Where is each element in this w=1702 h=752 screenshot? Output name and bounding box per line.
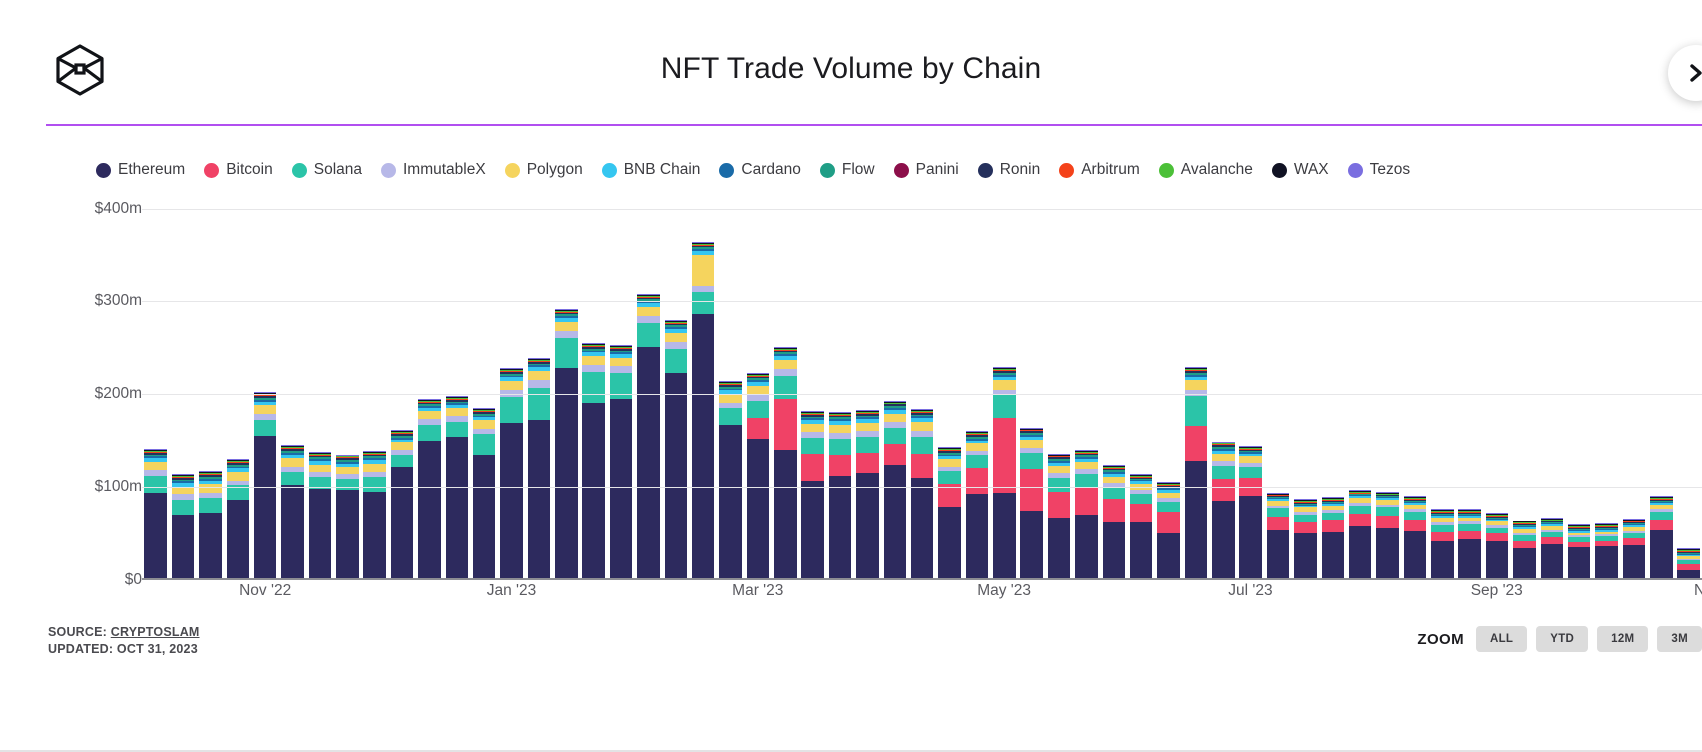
bar-segment-solana [774, 376, 797, 399]
y-axis-tick-label: $200m [22, 385, 142, 403]
bar-column[interactable] [1322, 190, 1345, 578]
bar-segment-ethereum [1048, 518, 1071, 578]
bar-segment-ethereum [391, 467, 414, 578]
bar-segment-ethereum [1376, 528, 1399, 578]
x-axis-labels: Nov '22Jan '23Mar '23May '23Jul '23Sep '… [142, 582, 1702, 608]
bar-segment-polygon [884, 414, 907, 422]
bar-column[interactable] [254, 190, 277, 578]
bar-segment-bitcoin [774, 399, 797, 450]
bar-segment-polygon [172, 487, 195, 494]
bar-column[interactable] [1568, 190, 1591, 578]
bar-segment-ethereum [829, 476, 852, 578]
bar-column[interactable] [1376, 190, 1399, 578]
bar-segment-ethereum [1267, 530, 1290, 578]
bar-column[interactable] [801, 190, 824, 578]
bar-segment-solana [1376, 507, 1399, 515]
bar-segment-solana [391, 455, 414, 467]
bar-segment-ethereum [1458, 539, 1481, 578]
bar-segment-ethereum [555, 368, 578, 578]
bar-segment-solana [555, 338, 578, 368]
bar-segment-ethereum [1404, 531, 1427, 578]
legend-swatch-icon [894, 163, 909, 178]
legend-item-flow[interactable]: Flow [820, 161, 875, 179]
bar-column[interactable] [144, 190, 167, 578]
legend-swatch-icon [1272, 163, 1287, 178]
bar-segment-polygon [254, 405, 277, 413]
gridline [142, 301, 1702, 302]
bar-segment-ethereum [528, 420, 551, 578]
bar-segment-ethereum [309, 489, 332, 578]
bar-column[interactable] [500, 190, 523, 578]
bar-column[interactable] [774, 190, 797, 578]
bar-column[interactable] [1404, 190, 1427, 578]
bar-segment-solana [1404, 512, 1427, 519]
x-axis-tick-label: Jul '23 [1228, 582, 1272, 600]
bar-column[interactable] [1294, 190, 1317, 578]
bar-segment-ethereum [446, 437, 469, 578]
legend-item-label: Polygon [527, 161, 583, 179]
bar-segment-polygon [719, 394, 742, 402]
legend-item-ethereum[interactable]: Ethereum [96, 161, 185, 179]
bar-segment-ethereum [1130, 522, 1153, 578]
bar-column[interactable] [1431, 190, 1454, 578]
bar-segment-bitcoin [1157, 512, 1180, 532]
source-link[interactable]: CRYPTOSLAM [111, 625, 200, 639]
legend-item-label: Arbitrum [1081, 161, 1140, 179]
bar-segment-polygon [856, 423, 879, 431]
bar-column[interactable] [418, 190, 441, 578]
bar-segment-polygon [555, 322, 578, 331]
bar-column[interactable] [911, 190, 934, 578]
bar-segment-bitcoin [911, 454, 934, 478]
bar-column[interactable] [1075, 190, 1098, 578]
bar-segment-solana [884, 428, 907, 445]
bar-segment-solana [172, 500, 195, 515]
bar-segment-ethereum [1677, 570, 1700, 578]
bar-segment-ethereum [884, 465, 907, 578]
bar-segment-polygon [610, 358, 633, 366]
x-axis-tick-label: Mar '23 [732, 582, 783, 600]
bar-segment-solana [199, 498, 222, 513]
bar-segment-ethereum [747, 439, 770, 578]
bar-segment-ethereum [719, 425, 742, 578]
bar-segment-ethereum [1294, 533, 1317, 578]
bar-segment-ethereum [692, 314, 715, 578]
bar-column[interactable] [993, 190, 1016, 578]
legend-swatch-icon [978, 163, 993, 178]
x-axis-tick-label: Jan '23 [487, 582, 537, 600]
bar-segment-ethereum [1212, 501, 1235, 578]
legend-item-avalanche[interactable]: Avalanche [1159, 161, 1253, 179]
bar-segment-polygon [144, 462, 167, 470]
legend-swatch-icon [505, 163, 520, 178]
bar-column[interactable] [856, 190, 879, 578]
legend-item-cardano[interactable]: Cardano [719, 161, 800, 179]
bar-column[interactable] [966, 190, 989, 578]
legend-item-label: Tezos [1370, 161, 1411, 179]
bar-segment-bitcoin [856, 453, 879, 473]
bar-segment-ethereum [1431, 541, 1454, 578]
bar-segment-ethereum [199, 513, 222, 578]
bar-column[interactable] [1048, 190, 1071, 578]
bar-segment-bitcoin [884, 444, 907, 464]
bar-segment-solana [1130, 494, 1153, 504]
zoom-button-ytd[interactable]: YTD [1536, 626, 1588, 652]
bar-segment-ethereum [1595, 546, 1618, 578]
bar-segment-solana [446, 422, 469, 437]
bar-segment-bitcoin [1075, 487, 1098, 515]
legend-item-tezos[interactable]: Tezos [1348, 161, 1411, 179]
bar-segment-ethereum [774, 450, 797, 578]
bar-segment-polygon [199, 484, 222, 492]
zoom-button-all[interactable]: ALL [1476, 626, 1527, 652]
bar-segment-solana [911, 437, 934, 454]
legend-swatch-icon [820, 163, 835, 178]
bar-segment-solana [473, 434, 496, 454]
bar-column[interactable] [719, 190, 742, 578]
bar-segment-ethereum [1486, 541, 1509, 578]
legend-swatch-icon [381, 163, 396, 178]
bar-segment-polygon [363, 464, 386, 472]
bar-column[interactable] [363, 190, 386, 578]
bar-segment-ethereum [500, 423, 523, 578]
bar-segment-ethereum [1568, 547, 1591, 578]
x-axis-tick-label: May '23 [977, 582, 1031, 600]
chart-header: NFT Trade Volume by Chain [0, 0, 1702, 88]
bar-column[interactable] [555, 190, 578, 578]
bar-segment-bitcoin [1349, 514, 1372, 526]
bar-segment-bitcoin [1020, 469, 1043, 511]
bar-segment-polygon [993, 380, 1016, 389]
bar-segment-polygon [473, 420, 496, 428]
gridline [142, 487, 1702, 488]
bar-segment-solana [528, 388, 551, 421]
zoom-button-12m[interactable]: 12M [1597, 626, 1648, 652]
bar-segment-polygon [281, 458, 304, 466]
bar-segment-polygon [637, 307, 660, 316]
chart-plot-area: $0$100m$200m$300m$400m [0, 190, 1702, 580]
bar-column[interactable] [473, 190, 496, 578]
bar-segment-solana [281, 472, 304, 485]
bar-segment-ethereum [172, 515, 195, 578]
bar-segment-ethereum [610, 399, 633, 578]
bar-segment-solana [856, 437, 879, 453]
legend-item-solana[interactable]: Solana [292, 161, 362, 179]
bar-column[interactable] [1020, 190, 1043, 578]
bar-segment-ethereum [1185, 461, 1208, 578]
legend-item-label: ImmutableX [403, 161, 486, 179]
y-axis-tick-label: $400m [22, 200, 142, 218]
bar-segment-solana [829, 439, 852, 456]
bar-segment-solana [747, 401, 770, 419]
bar-segment-polygon [966, 443, 989, 450]
bar-segment-ethereum [1239, 496, 1262, 578]
bar-segment-polygon [801, 424, 824, 432]
bar-segment-ethereum [856, 473, 879, 578]
bar-column[interactable] [1212, 190, 1235, 578]
bar-segment-solana [692, 292, 715, 314]
y-axis-tick-label: $0 [22, 571, 142, 589]
legend-item-label: WAX [1294, 161, 1329, 179]
bar-column[interactable] [1239, 190, 1262, 578]
bar-column[interactable] [281, 190, 304, 578]
legend-item-ronin[interactable]: Ronin [978, 161, 1041, 179]
bar-segment-polygon [1048, 466, 1071, 473]
bar-segment-polygon [1075, 462, 1098, 469]
bar-segment-ethereum [665, 373, 688, 578]
bar-segment-solana [582, 372, 605, 404]
legend-item-label: Bitcoin [226, 161, 273, 179]
legend-item-label: Ethereum [118, 161, 185, 179]
bar-segment-polygon [692, 255, 715, 286]
bar-segment-solana [500, 397, 523, 423]
bar-segment-polygon [829, 425, 852, 433]
x-axis-tick-label: Nov '2 [1694, 582, 1702, 600]
legend-swatch-icon [1059, 163, 1074, 178]
bar-segment-solana [665, 349, 688, 373]
bar-segment-bitcoin [1513, 541, 1536, 548]
bar-column[interactable] [1185, 190, 1208, 578]
legend-item-bitcoin[interactable]: Bitcoin [204, 161, 273, 179]
bar-segment-polygon [336, 467, 359, 474]
bar-column[interactable] [1677, 190, 1700, 578]
legend-swatch-icon [1159, 163, 1174, 178]
bar-segment-polygon [309, 465, 332, 472]
bar-segment-bitcoin [1486, 533, 1509, 540]
y-axis-tick-label: $100m [22, 478, 142, 496]
bar-segment-bitcoin [1458, 531, 1481, 539]
bar-segment-solana [418, 425, 441, 441]
gridline [142, 394, 1702, 395]
bar-column[interactable] [227, 190, 250, 578]
bar-segment-solana [637, 323, 660, 347]
bar-column[interactable] [199, 190, 222, 578]
bar-segment-polygon [911, 422, 934, 431]
bar-segment-solana [938, 471, 961, 484]
bar-segment-polygon [582, 356, 605, 365]
bar-segment-solana [363, 477, 386, 492]
bar-column[interactable] [528, 190, 551, 578]
legend-item-label: Flow [842, 161, 875, 179]
bar-segment-ethereum [418, 441, 441, 578]
legend-item-wax[interactable]: WAX [1272, 161, 1329, 179]
bar-segment-ethereum [1623, 545, 1646, 578]
bar-segment-ethereum [938, 507, 961, 578]
accent-divider [46, 124, 1702, 126]
bar-column[interactable] [884, 190, 907, 578]
gridline [142, 580, 1702, 581]
bar-segment-polygon [500, 381, 523, 390]
bar-segment-solana [719, 408, 742, 425]
bar-column[interactable] [1458, 190, 1481, 578]
bar-segment-ethereum [582, 403, 605, 578]
bar-segment-ethereum [144, 493, 167, 578]
legend-item-label: Cardano [741, 161, 800, 179]
bar-segment-ethereum [281, 485, 304, 578]
bar-segment-solana [1157, 502, 1180, 512]
zoom-button-3m[interactable]: 3M [1657, 626, 1702, 652]
bar-column[interactable] [1541, 190, 1564, 578]
bar-column[interactable] [1349, 190, 1372, 578]
bar-segment-polygon [1185, 380, 1208, 389]
zoom-controls: ZOOM ALLYTD12M3M [1417, 626, 1702, 652]
bar-segment-solana [1103, 487, 1126, 499]
bar-segment-bitcoin [1376, 516, 1399, 528]
bar-column[interactable] [1157, 190, 1180, 578]
bar-series-container [142, 190, 1702, 578]
bar-segment-ethereum [1349, 526, 1372, 578]
chevron-right-icon [1686, 63, 1702, 83]
bar-segment-solana [1294, 515, 1317, 522]
bar-segment-polygon [227, 472, 250, 480]
bar-segment-solana [801, 438, 824, 454]
legend-item-label: Solana [314, 161, 362, 179]
bar-column[interactable] [1513, 190, 1536, 578]
legend-item-label: BNB Chain [624, 161, 701, 179]
bar-column[interactable] [1623, 190, 1646, 578]
source-footer: SOURCE: CRYPTOSLAM UPDATED: OCT 31, 2023 [48, 624, 200, 658]
bar-column[interactable] [1486, 190, 1509, 578]
bar-column[interactable] [391, 190, 414, 578]
bar-column[interactable] [446, 190, 469, 578]
zoom-label: ZOOM [1417, 631, 1464, 648]
bar-segment-ethereum [1541, 544, 1564, 578]
bar-column[interactable] [1130, 190, 1153, 578]
chart-card: NFT Trade Volume by Chain EthereumBitcoi… [0, 0, 1702, 752]
legend-item-label: Avalanche [1181, 161, 1253, 179]
legend-swatch-icon [96, 163, 111, 178]
bar-segment-solana [966, 455, 989, 468]
bar-segment-ethereum [227, 500, 250, 578]
bar-column[interactable] [1267, 190, 1290, 578]
bar-column[interactable] [829, 190, 852, 578]
bar-segment-bitcoin [1404, 520, 1427, 531]
bar-column[interactable] [637, 190, 660, 578]
bar-segment-polygon [418, 411, 441, 419]
bar-segment-bitcoin [747, 418, 770, 438]
bar-segment-bitcoin [1267, 517, 1290, 530]
bar-segment-ethereum [1103, 522, 1126, 578]
legend-swatch-icon [1348, 163, 1363, 178]
legend-item-polygon[interactable]: Polygon [505, 161, 583, 179]
bar-segment-solana [1322, 513, 1345, 520]
bar-segment-solana [1020, 453, 1043, 470]
x-axis-tick-label: Nov '22 [239, 582, 291, 600]
legend-item-bnb-chain[interactable]: BNB Chain [602, 161, 701, 179]
bar-segment-bitcoin [1294, 522, 1317, 533]
legend-swatch-icon [292, 163, 307, 178]
bar-segment-solana [1185, 396, 1208, 426]
bar-segment-ethereum [1650, 530, 1673, 578]
bar-segment-immutablex [528, 380, 551, 387]
bar-segment-ethereum [336, 490, 359, 578]
bar-column[interactable] [1103, 190, 1126, 578]
legend-item-label: Panini [916, 161, 959, 179]
bar-segment-polygon [528, 371, 551, 380]
bar-segment-polygon [446, 408, 469, 416]
bar-segment-bitcoin [993, 418, 1016, 492]
bar-column[interactable] [582, 190, 605, 578]
bar-segment-bitcoin [1650, 520, 1673, 529]
legend-item-arbitrum[interactable]: Arbitrum [1059, 161, 1140, 179]
bar-segment-solana [254, 420, 277, 436]
bar-segment-polygon [938, 459, 961, 466]
bar-segment-bitcoin [966, 468, 989, 494]
bar-segment-solana [1239, 467, 1262, 478]
bar-segment-solana [144, 476, 167, 493]
bar-segment-ethereum [637, 347, 660, 578]
source-prefix: SOURCE: [48, 625, 111, 639]
bar-column[interactable] [309, 190, 332, 578]
bar-segment-bitcoin [1431, 532, 1454, 541]
y-axis-tick-label: $300m [22, 292, 142, 310]
bar-segment-solana [1048, 478, 1071, 492]
bar-column[interactable] [1650, 190, 1673, 578]
legend-item-label: Ronin [1000, 161, 1041, 179]
bar-segment-bitcoin [801, 454, 824, 482]
bar-segment-ethereum [801, 481, 824, 578]
bar-segment-ethereum [966, 494, 989, 578]
bar-segment-bitcoin [1048, 492, 1071, 518]
bar-column[interactable] [747, 190, 770, 578]
legend-swatch-icon [719, 163, 734, 178]
bar-segment-bitcoin [1185, 426, 1208, 461]
bar-segment-ethereum [1322, 532, 1345, 578]
bar-column[interactable] [665, 190, 688, 578]
legend-swatch-icon [602, 163, 617, 178]
x-axis-tick-label: Sep '23 [1471, 582, 1523, 600]
bar-segment-solana [993, 395, 1016, 418]
legend-swatch-icon [204, 163, 219, 178]
bar-column[interactable] [172, 190, 195, 578]
bar-segment-polygon [665, 333, 688, 342]
bar-segment-polygon [774, 360, 797, 369]
bar-segment-solana [1650, 512, 1673, 520]
updated-date: UPDATED: OCT 31, 2023 [48, 641, 200, 658]
bar-column[interactable] [692, 190, 715, 578]
bar-segment-ethereum [473, 455, 496, 579]
bar-segment-bitcoin [1130, 504, 1153, 523]
bar-segment-ethereum [363, 492, 386, 578]
bar-column[interactable] [938, 190, 961, 578]
bar-segment-solana [1075, 474, 1098, 487]
gridline [142, 209, 1702, 210]
page-title: NFT Trade Volume by Chain [0, 52, 1702, 86]
bar-segment-polygon [1020, 440, 1043, 448]
bar-segment-bitcoin [1103, 499, 1126, 522]
bar-segment-ethereum [254, 436, 277, 578]
bar-segment-polygon [391, 442, 414, 449]
bar-segment-bitcoin [829, 455, 852, 475]
bar-segment-solana [1267, 508, 1290, 516]
bar-segment-ethereum [1157, 533, 1180, 579]
bar-segment-solana [1349, 506, 1372, 514]
legend-item-panini[interactable]: Panini [894, 161, 959, 179]
bar-column[interactable] [1595, 190, 1618, 578]
bar-column[interactable] [610, 190, 633, 578]
bar-segment-ethereum [1075, 515, 1098, 578]
bar-segment-ethereum [911, 478, 934, 578]
bar-segment-bitcoin [1212, 479, 1235, 501]
bar-segment-solana [1212, 466, 1235, 479]
bar-segment-ethereum [993, 493, 1016, 578]
bar-segment-polygon [1212, 454, 1235, 461]
bar-segment-ethereum [1513, 548, 1536, 578]
bar-segment-immutablex [555, 331, 578, 338]
bar-segment-bitcoin [1322, 520, 1345, 531]
legend-item-immutablex[interactable]: ImmutableX [381, 161, 486, 179]
bar-column[interactable] [336, 190, 359, 578]
